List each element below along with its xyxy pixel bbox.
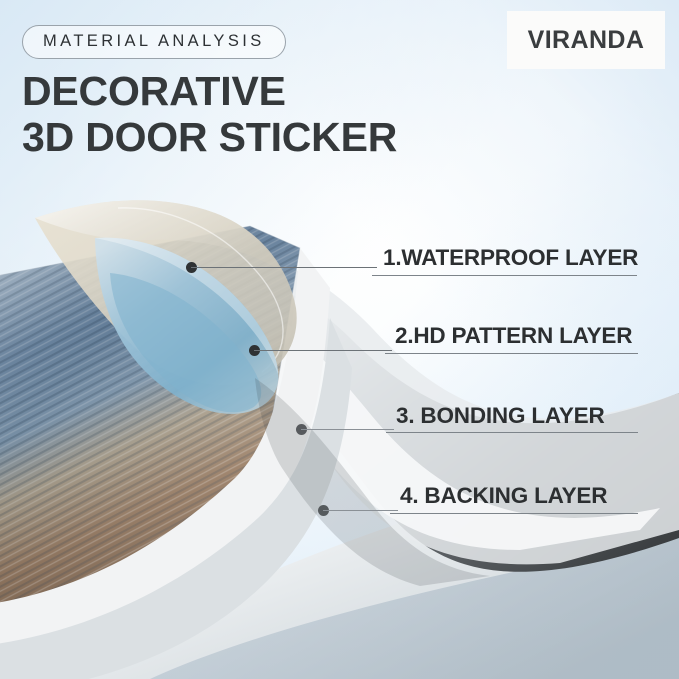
title-line-1: DECORATIVE (22, 68, 286, 114)
label-rule-2 (385, 353, 638, 354)
label-rule-1 (372, 275, 637, 276)
callout-leader-2 (254, 350, 392, 351)
eyebrow-badge: MATERIAL ANALYSIS (22, 25, 286, 59)
label-bonding-layer: 3. BONDING LAYER (396, 405, 605, 428)
callout-leader-1 (191, 267, 377, 268)
label-backing-layer: 4. BACKING LAYER (400, 485, 607, 508)
callout-leader-4 (323, 510, 398, 511)
brand-name: VIRANDA (528, 26, 645, 55)
callout-leader-3 (301, 429, 394, 430)
label-waterproof-layer: 1.WATERPROOF LAYER (383, 247, 638, 270)
label-rule-3 (386, 432, 638, 433)
brand-logo-box: VIRANDA (507, 11, 665, 69)
label-hd-pattern-layer: 2.HD PATTERN LAYER (395, 325, 632, 348)
poster-canvas: MATERIAL ANALYSIS DECORATIVE 3D DOOR STI… (0, 0, 679, 679)
title-line-2: 3D DOOR STICKER (22, 114, 397, 160)
label-rule-4 (390, 513, 638, 514)
page-title: DECORATIVE 3D DOOR STICKER (22, 68, 397, 161)
